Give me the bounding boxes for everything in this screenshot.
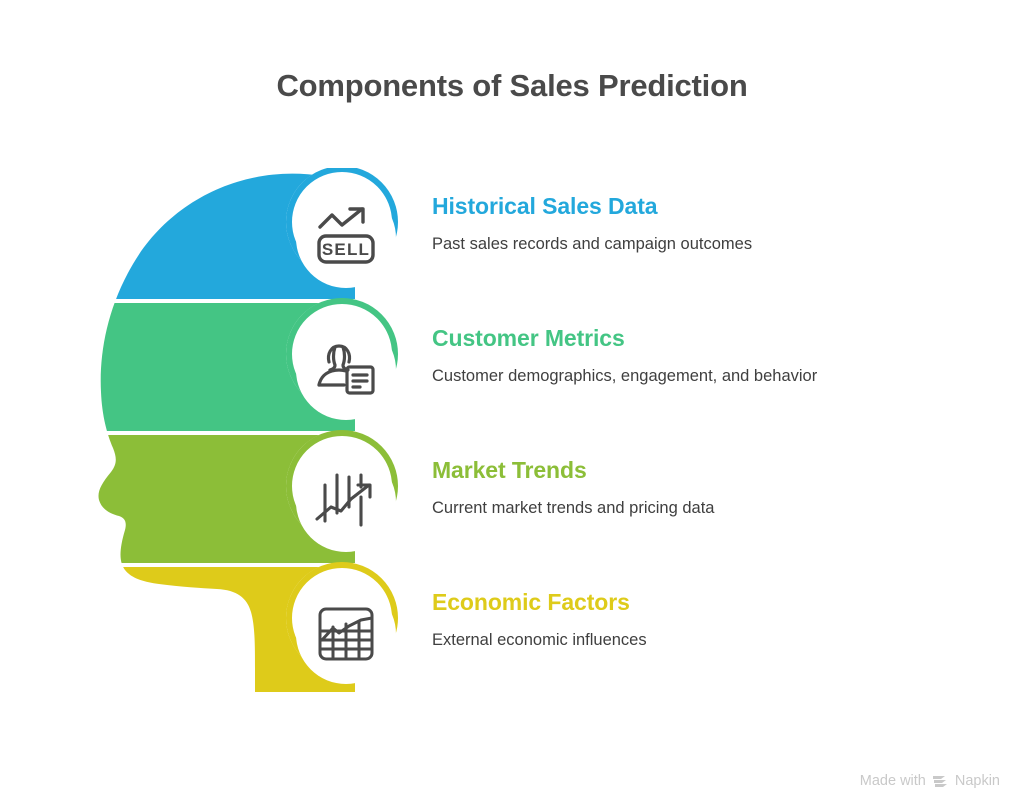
grid-area-chart-icon-badge[interactable]	[296, 584, 396, 684]
component-heading: Customer Metrics	[432, 326, 992, 351]
sell-trend-icon-badge[interactable]: SELL	[296, 188, 396, 288]
sell-trend-icon: SELL	[311, 203, 381, 273]
infographic-canvas: Components of Sales Prediction	[0, 0, 1024, 809]
person-record-icon-badge[interactable]	[296, 320, 396, 420]
page-title: Components of Sales Prediction	[0, 68, 1024, 104]
watermark-prefix: Made with	[860, 773, 926, 789]
component-text-block: Customer Metrics Customer demographics, …	[432, 326, 992, 387]
candlestick-arrow-icon	[311, 467, 381, 537]
component-text-block: Market Trends Current market trends and …	[432, 458, 992, 519]
component-text-block: Economic Factors External economic influ…	[432, 590, 992, 651]
component-description: Current market trends and pricing data	[432, 498, 992, 519]
component-text-block: Historical Sales Data Past sales records…	[432, 194, 992, 255]
component-description: Past sales records and campaign outcomes	[432, 234, 992, 255]
component-heading: Market Trends	[432, 458, 992, 483]
component-description: External economic influences	[432, 630, 992, 651]
grid-area-chart-icon	[311, 599, 381, 669]
component-description: Customer demographics, engagement, and b…	[432, 366, 992, 387]
component-heading: Economic Factors	[432, 590, 992, 615]
napkin-logo-icon	[932, 774, 949, 789]
sell-icon-label: SELL	[322, 240, 370, 259]
person-record-icon	[311, 335, 381, 405]
watermark-brand: Napkin	[955, 773, 1000, 789]
napkin-watermark: Made with Napkin	[860, 773, 1000, 789]
component-heading: Historical Sales Data	[432, 194, 992, 219]
candlestick-arrow-icon-badge[interactable]	[296, 452, 396, 552]
